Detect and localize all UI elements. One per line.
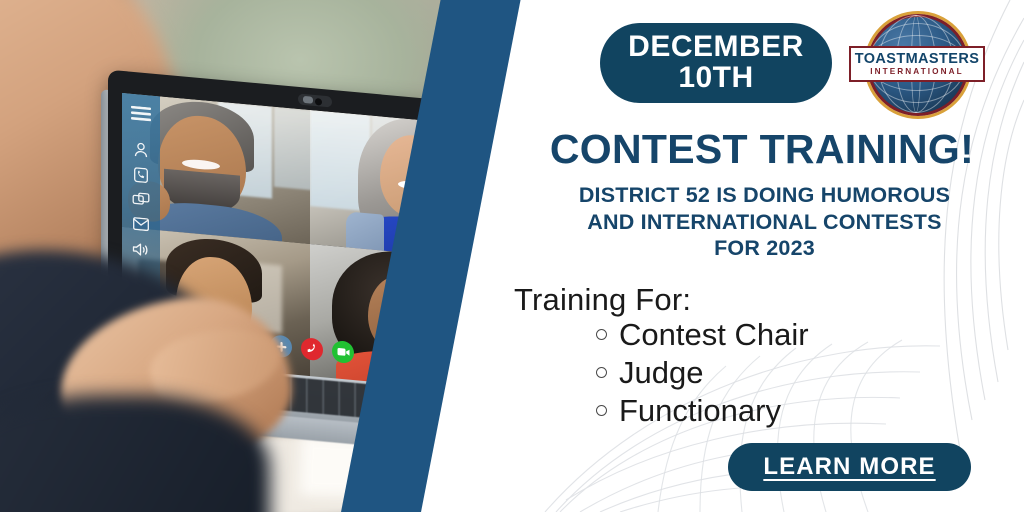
- role-label: Contest Chair: [619, 316, 809, 354]
- learn-more-button[interactable]: LEARN MORE: [728, 443, 971, 491]
- screens-icon[interactable]: [133, 192, 150, 213]
- training-roles-list: Contest Chair Judge Functionary: [596, 316, 809, 429]
- person-icon[interactable]: [134, 142, 148, 163]
- headline: CONTEST TRAINING!: [500, 126, 1024, 173]
- date-badge-line2: 10TH: [678, 63, 753, 94]
- learn-more-label: LEARN MORE: [763, 453, 935, 481]
- logo-banner: TOASTMASTERS INTERNATIONAL: [849, 46, 985, 82]
- date-badge: DECEMBER 10TH: [600, 23, 832, 103]
- subheadline: DISTRICT 52 IS DOING HUMOROUS AND INTERN…: [512, 182, 1017, 262]
- promotional-banner: DECEMBER 10TH TOASTMASTERS INTERNATIONAL…: [0, 0, 1024, 512]
- list-item: Judge: [596, 354, 809, 392]
- role-label: Judge: [619, 354, 703, 392]
- list-item: Contest Chair: [596, 316, 809, 354]
- toggle-video-button[interactable]: [332, 340, 354, 364]
- training-label: Training For:: [514, 282, 691, 318]
- mail-icon[interactable]: [133, 217, 149, 236]
- bullet-icon: [596, 329, 607, 340]
- logo-line2: INTERNATIONAL: [870, 68, 964, 76]
- list-item: Functionary: [596, 392, 809, 430]
- date-badge-line1: DECEMBER: [628, 32, 804, 63]
- subheadline-line2: AND INTERNATIONAL CONTESTS: [512, 209, 1017, 236]
- logo-line1: TOASTMASTERS: [855, 52, 980, 67]
- bullet-icon: [596, 367, 607, 378]
- subheadline-line1: DISTRICT 52 IS DOING HUMOROUS: [512, 182, 1017, 209]
- phone-icon[interactable]: [134, 167, 148, 188]
- content-column: DECEMBER 10TH TOASTMASTERS INTERNATIONAL…: [500, 0, 1024, 512]
- role-label: Functionary: [619, 392, 781, 430]
- speaker-icon[interactable]: [133, 242, 150, 263]
- subheadline-line3: FOR 2023: [512, 235, 1017, 262]
- hamburger-menu-icon[interactable]: [131, 106, 151, 127]
- bullet-icon: [596, 405, 607, 416]
- toastmasters-logo: TOASTMASTERS INTERNATIONAL: [845, 12, 985, 112]
- end-call-button[interactable]: [301, 337, 323, 361]
